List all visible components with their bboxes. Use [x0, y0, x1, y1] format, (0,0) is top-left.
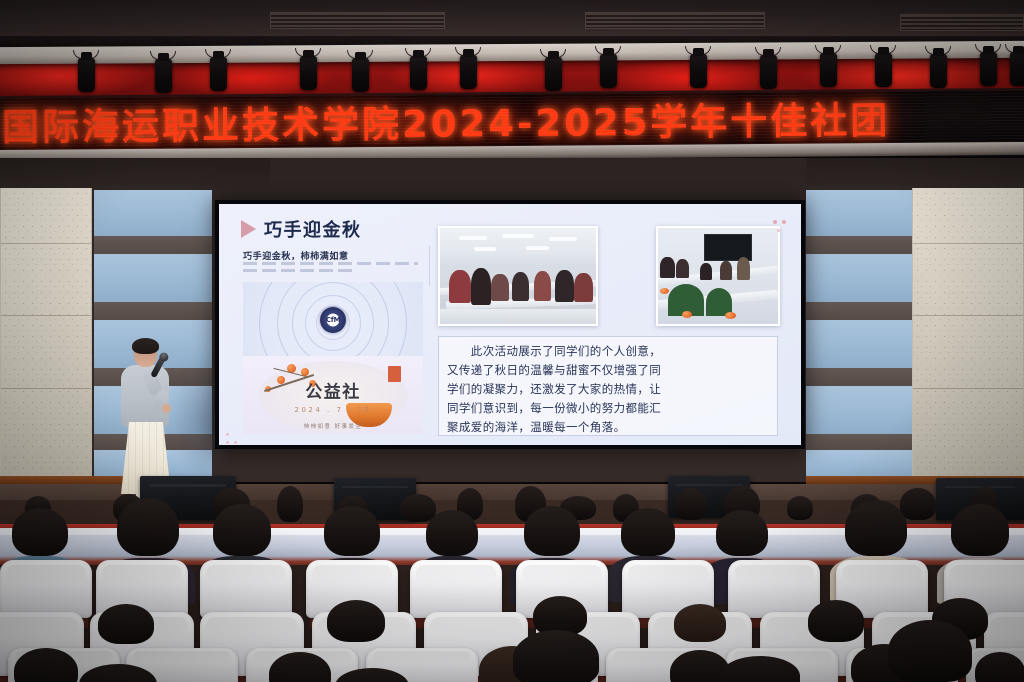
stage-light-fixture [1010, 52, 1024, 86]
stage-light-fixture [352, 58, 369, 92]
audience-head [975, 652, 1024, 682]
audience-chair [0, 560, 92, 618]
photo-person [660, 257, 674, 278]
poster-date: 2024 . 7 . 18 [294, 406, 371, 414]
photo-classroom-tv [656, 226, 780, 326]
audience-head [327, 600, 385, 642]
triangle-marker-icon [241, 220, 256, 238]
ceiling [0, 0, 1024, 40]
stage-light-fixture [980, 52, 997, 86]
audience-head [324, 506, 380, 556]
slide-subtitle: 巧手迎金秋，柿柿满如意 [243, 249, 349, 262]
photo-person [700, 263, 712, 280]
stage-light-fixture [545, 57, 562, 91]
slide-title-row: 巧手迎金秋 [241, 216, 362, 242]
stage-light-fixture [410, 56, 427, 90]
projection-screen: 巧手迎金秋 巧手迎金秋，柿柿满如意 CfM [215, 200, 805, 449]
photo-person [491, 274, 508, 301]
photo-person [471, 268, 491, 304]
stage-light-fixture [875, 53, 892, 87]
summary-line: 聚成爱的海洋，温暖每一个角落。 [447, 422, 769, 434]
stage-light-fixture [460, 55, 477, 89]
audience-head [98, 604, 154, 644]
acoustic-perforated-panel-left [0, 188, 92, 478]
stage-light-fixture [760, 55, 777, 89]
summary-line: 此次活动展示了同学们的个人创意， [447, 346, 769, 358]
photo-person [555, 270, 574, 302]
summary-line: 同学们意识到，每一份微小的努力都能汇 [447, 403, 769, 415]
acoustic-perforated-panel-right [912, 188, 1024, 478]
stage-light-fixture [300, 56, 317, 90]
slide-title: 巧手迎金秋 [264, 216, 362, 242]
ceiling-vent-3 [900, 14, 1024, 31]
audience-head [12, 508, 68, 556]
photo-person [534, 271, 551, 301]
club-seal-text: CfM [326, 316, 340, 324]
poster-slogan: 柿柿如意 好事发生 [304, 422, 362, 430]
audience-head [675, 488, 706, 520]
auditorium-scene: 国际海运职业技术学院2024-2025学年十佳社团 [0, 0, 1024, 682]
photo-person [737, 257, 750, 280]
slide-emblem-panel: CfM [243, 282, 423, 356]
audience-head [951, 504, 1009, 556]
stage-light-fixture [600, 54, 617, 88]
audience-head-foreground [888, 620, 972, 682]
activity-summary-textbox: 此次活动展示了同学们的个人创意， 又传递了秋日的温馨与甜蜜不仅增强了同 学们的凝… [438, 336, 778, 436]
audience-head [117, 498, 179, 556]
audience-head-foreground [513, 630, 599, 682]
club-seal-icon: CfM [320, 307, 346, 333]
acoustic-blue-panel-right [806, 186, 912, 478]
red-seal-stamp-icon [388, 366, 401, 382]
stage-light-fixture [820, 53, 837, 87]
audience-chair [200, 560, 292, 618]
audience-head [808, 600, 864, 642]
stage-light-fixture [930, 54, 947, 88]
presenter-hair [132, 338, 159, 354]
stage-light-fixture [78, 58, 95, 92]
audience-chair [410, 560, 502, 618]
audience-head [716, 510, 768, 556]
stage-light-fixture [155, 59, 172, 93]
summary-line: 学们的凝聚力，还激发了大家的热情，让 [447, 384, 769, 396]
slide-vertical-divider [429, 246, 430, 286]
photo-classroom-wide [438, 226, 598, 326]
stage-light-fixture [690, 54, 707, 88]
audience-head [621, 508, 675, 556]
led-banner-text: 国际海运职业技术学院2024-2025学年十佳社团 [0, 90, 891, 151]
photo-person [676, 259, 689, 278]
photo-person [449, 270, 471, 303]
audience-head [900, 488, 936, 520]
ceiling-vent-2 [585, 12, 765, 29]
slide: 巧手迎金秋 巧手迎金秋，柿柿满如意 CfM [219, 204, 801, 445]
audience-head [426, 510, 478, 556]
audience-head [845, 500, 907, 556]
summary-line: 又传递了秋日的温馨与甜蜜不仅增强了同 [447, 365, 769, 377]
slide-activity-poster: 公益社 2024 . 7 . 18 柿柿如意 好事发生 [243, 356, 423, 434]
audience-head [787, 496, 813, 520]
photo-person [720, 261, 732, 280]
wall-top-dark-right [806, 158, 1024, 188]
photo-person [574, 273, 593, 302]
ceiling-vent-1 [270, 12, 445, 29]
presenter-hand [162, 404, 171, 413]
audience-chair [728, 560, 820, 618]
poster-title: 公益社 [305, 378, 361, 403]
audience-head [524, 506, 580, 556]
audience-head [674, 604, 726, 642]
photo-person [512, 272, 529, 301]
audience-head [213, 504, 271, 556]
audience-head [277, 486, 303, 522]
wall-top-dark-left [0, 158, 270, 188]
stage-light-fixture [210, 57, 227, 91]
slide-fineprint-illegible [243, 262, 418, 276]
